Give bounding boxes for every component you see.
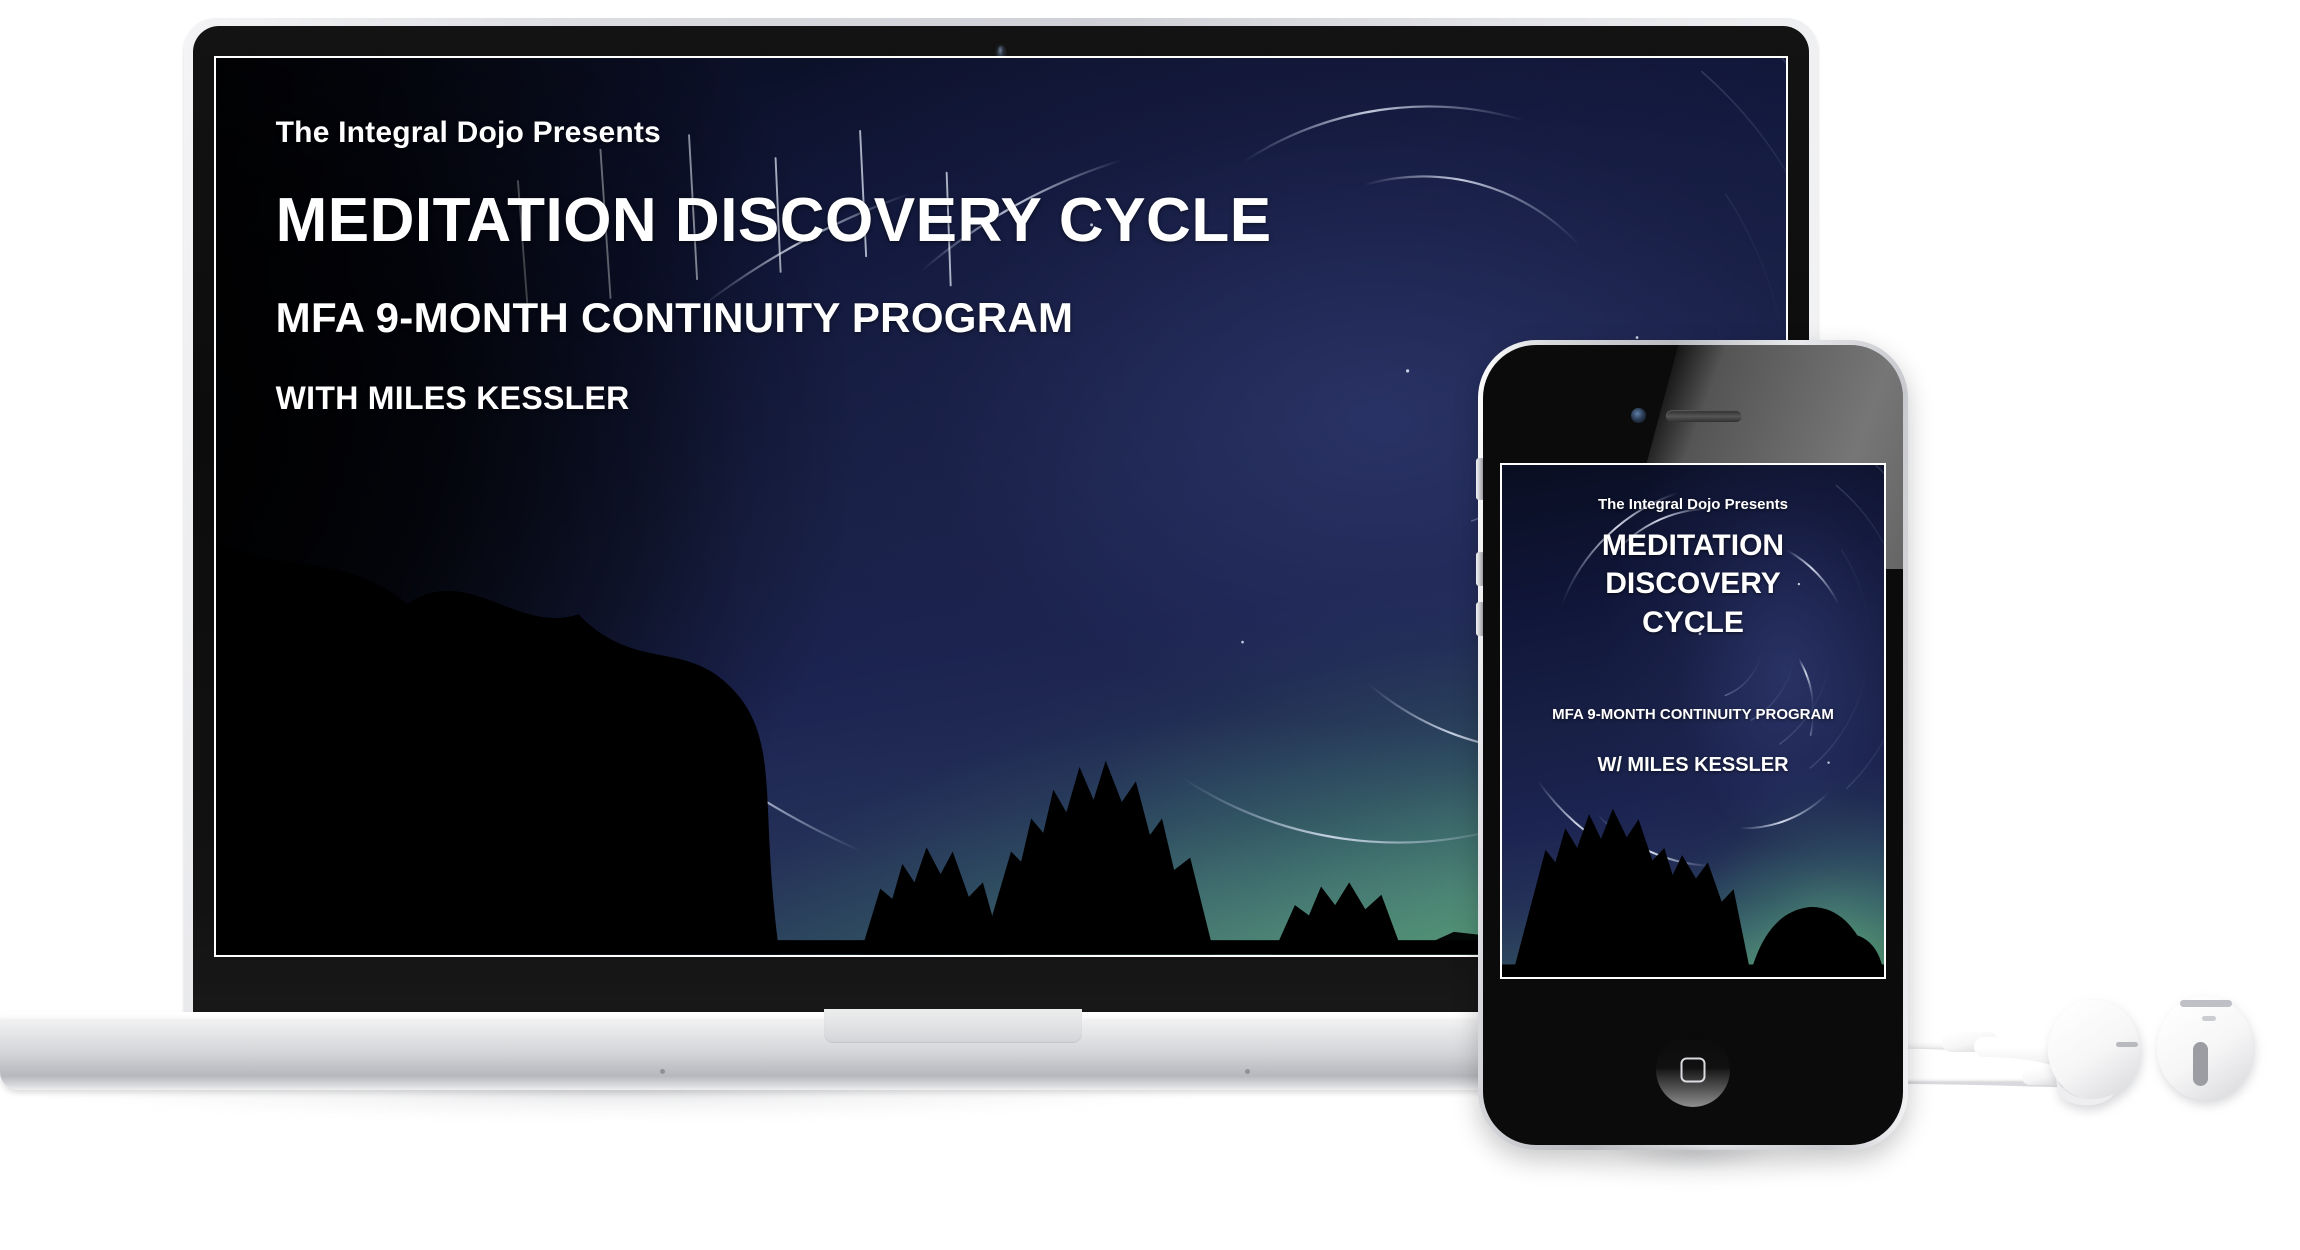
phone-slide-headline-line-1: MEDITATION [1502, 527, 1884, 565]
phone-body: The Integral Dojo Presents MEDITATION DI… [1483, 345, 1903, 1145]
slide-kicker: The Integral Dojo Presents [276, 116, 1692, 150]
phone-screen-frame: The Integral Dojo Presents MEDITATION DI… [1500, 463, 1886, 979]
earbuds-icon [1880, 950, 2300, 1150]
phone-slide-kicker: The Integral Dojo Presents [1502, 496, 1884, 513]
home-button-icon[interactable] [1656, 1033, 1730, 1107]
laptop-base-shadow [10, 1086, 1530, 1176]
phone-slide-headline-line-3: CYCLE [1502, 604, 1884, 642]
volume-up-button[interactable] [1476, 552, 1483, 586]
device-mockup-scene: The Integral Dojo Presents MEDITATION DI… [0, 0, 2300, 1250]
phone-slide-headline-line-2: DISCOVERY [1502, 565, 1884, 603]
phone-slide-subhead: MFA 9-MONTH CONTINUITY PROGRAM [1502, 706, 1884, 723]
slide-subhead: MFA 9-MONTH CONTINUITY PROGRAM [276, 294, 1692, 342]
ring-silent-switch[interactable] [1476, 458, 1483, 500]
phone-device: The Integral Dojo Presents MEDITATION DI… [1478, 340, 1908, 1150]
volume-down-button[interactable] [1476, 602, 1483, 636]
front-camera-icon [1631, 408, 1646, 423]
phone-slide-text-block: The Integral Dojo Presents MEDITATION DI… [1502, 496, 1884, 642]
slide-headline: MEDITATION DISCOVERY CYCLE [276, 190, 1692, 252]
home-button-glyph [1681, 1058, 1706, 1083]
earpiece-speaker-icon [1666, 410, 1742, 422]
phone-reflection [1500, 1148, 1884, 1238]
phone-slide-presenter: W/ MILES KESSLER [1502, 754, 1884, 777]
phone-tree-silhouette-artwork [1502, 762, 1884, 977]
phone-screen[interactable]: The Integral Dojo Presents MEDITATION DI… [1502, 465, 1884, 977]
